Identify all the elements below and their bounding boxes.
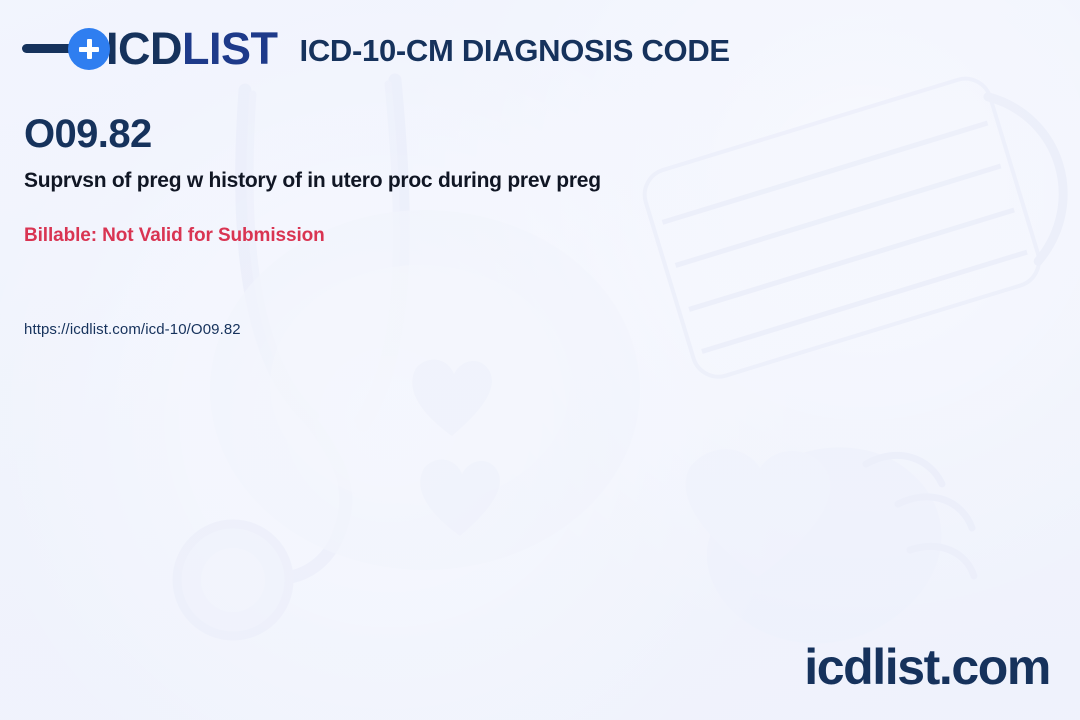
page-header: ICDLIST ICD-10-CM DIAGNOSIS CODE [22, 26, 730, 71]
logo-text-icd: ICD [106, 23, 182, 74]
plus-vertical [87, 39, 92, 59]
logo-bar-icon [22, 44, 74, 53]
billable-status-badge: Billable: Not Valid for Submission [24, 224, 325, 248]
icdlist-logo[interactable]: ICDLIST [22, 26, 278, 71]
source-url[interactable]: https://icdlist.com/icd-10/O09.82 [24, 321, 241, 339]
footer-site-name: icdlist.com [804, 642, 1050, 692]
diagnosis-code: O09.82 [24, 112, 152, 156]
plus-circle-icon [68, 28, 110, 70]
icd-code-card: ICDLIST ICD-10-CM DIAGNOSIS CODE O09.82 … [0, 0, 1080, 720]
card-content: ICDLIST ICD-10-CM DIAGNOSIS CODE O09.82 … [0, 0, 1080, 720]
logo-wordmark: ICDLIST [106, 26, 278, 71]
page-title: ICD-10-CM DIAGNOSIS CODE [300, 35, 730, 66]
logo-text-list: LIST [182, 23, 278, 74]
diagnosis-description: Suprvsn of preg w history of in utero pr… [24, 168, 601, 194]
